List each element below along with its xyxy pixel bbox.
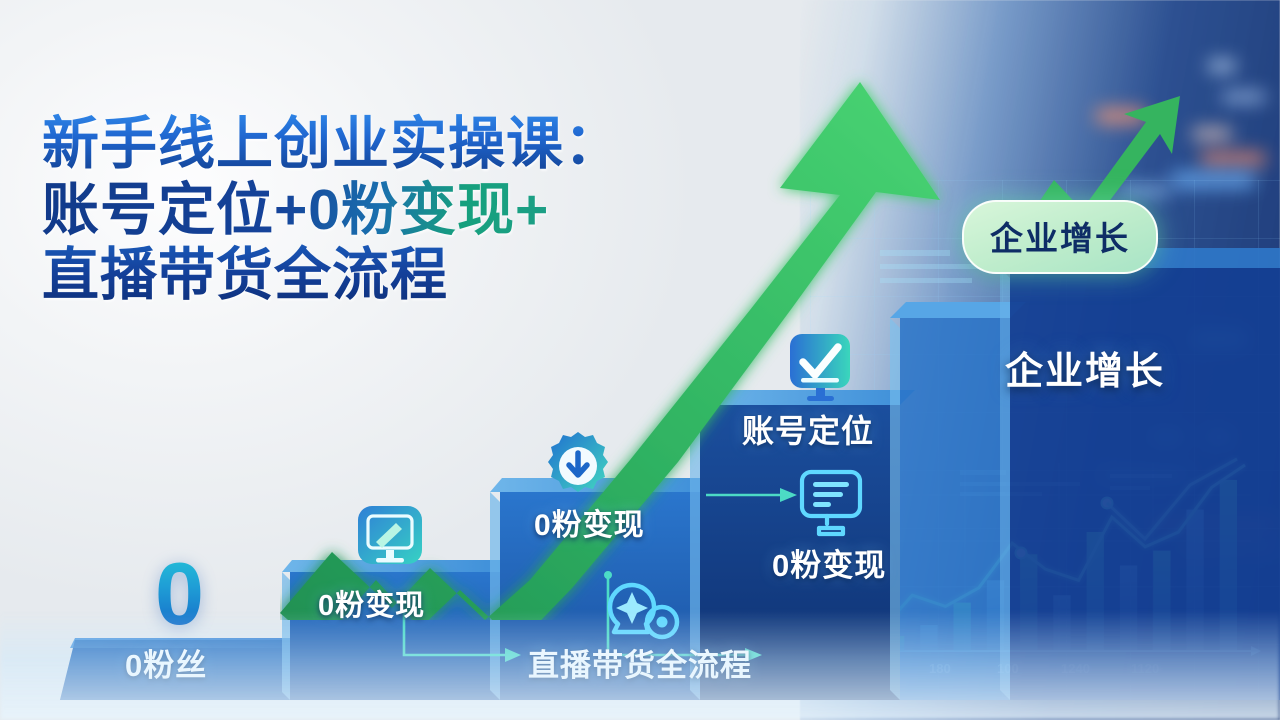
- monitor-check-icon: [784, 330, 858, 406]
- poster-canvas: 90 30 50 :00 180 100 1240 1120: [0, 0, 1280, 720]
- step-label-0-fan-monetize-2: 0粉变现: [534, 500, 645, 544]
- step-label-enterprise-growth: 企业增长: [1005, 340, 1165, 395]
- monitor-pen-icon: [352, 500, 428, 576]
- title-line-2: 账号定位+0粉变现+: [42, 178, 742, 244]
- gear-download-icon: [540, 428, 616, 504]
- title-line-1: 新手线上创业实操课：: [42, 112, 742, 178]
- title-line-3: 直播带货全流程: [42, 243, 742, 309]
- floor-reflection: [0, 610, 1280, 720]
- monitor-lines-icon: [794, 466, 870, 540]
- step-label-0-fan-monetize-3: 0粉变现: [772, 540, 886, 585]
- step-label-account-positioning: 账号定位: [742, 406, 874, 452]
- page-title: 新手线上创业实操课： 账号定位+0粉变现+ 直播带货全流程: [42, 112, 742, 309]
- growth-badge-pill: 企业增长: [962, 200, 1158, 274]
